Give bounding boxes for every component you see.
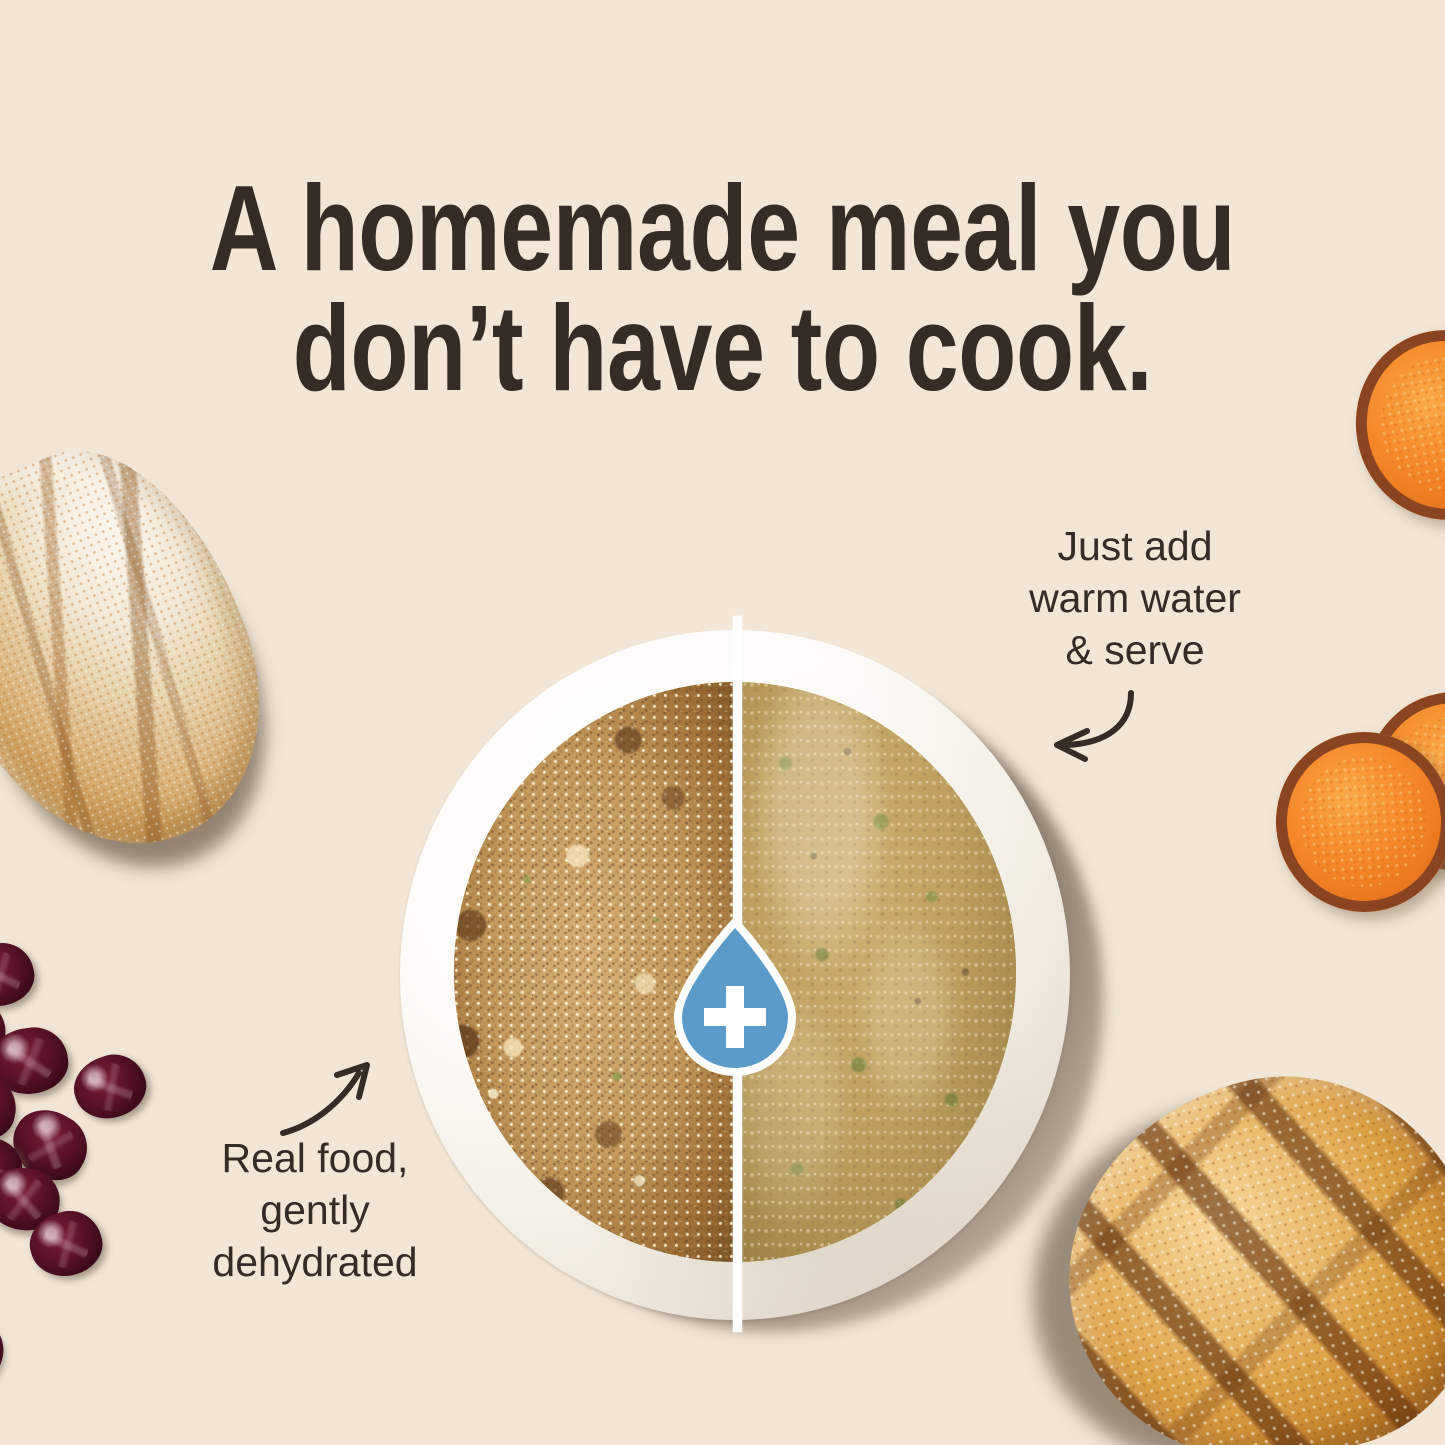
seared-cod-fillet [0,452,284,892]
cranberry [0,936,40,1013]
product-marketing-image: A homemade meal you don’t have to cook. … [0,0,1445,1445]
cod-body [0,412,308,892]
annotation-left-text: Real food, gently dehydrated [170,1132,460,1288]
cranberry [0,1023,72,1099]
sweet-potato-slice [1341,316,1445,534]
headline-line-1: A homemade meal you [159,168,1286,288]
dried-cranberries [0,944,190,1364]
cranberry [66,1046,155,1129]
headline-line-2: don’t have to cook. [159,288,1286,408]
chicken-body [1028,1036,1445,1445]
cranberry [0,1306,12,1390]
sweet-potato-slice [1270,726,1445,918]
sweet-potato-slices [1300,330,1445,940]
annotation-right-text: Just add warm water & serve [985,520,1285,676]
headline: A homemade meal you don’t have to cook. [159,168,1286,408]
curved-arrow-down-left-icon [1035,685,1185,785]
water-drop-plus-icon [662,918,808,1080]
grilled-chicken-breast [1038,1080,1445,1445]
